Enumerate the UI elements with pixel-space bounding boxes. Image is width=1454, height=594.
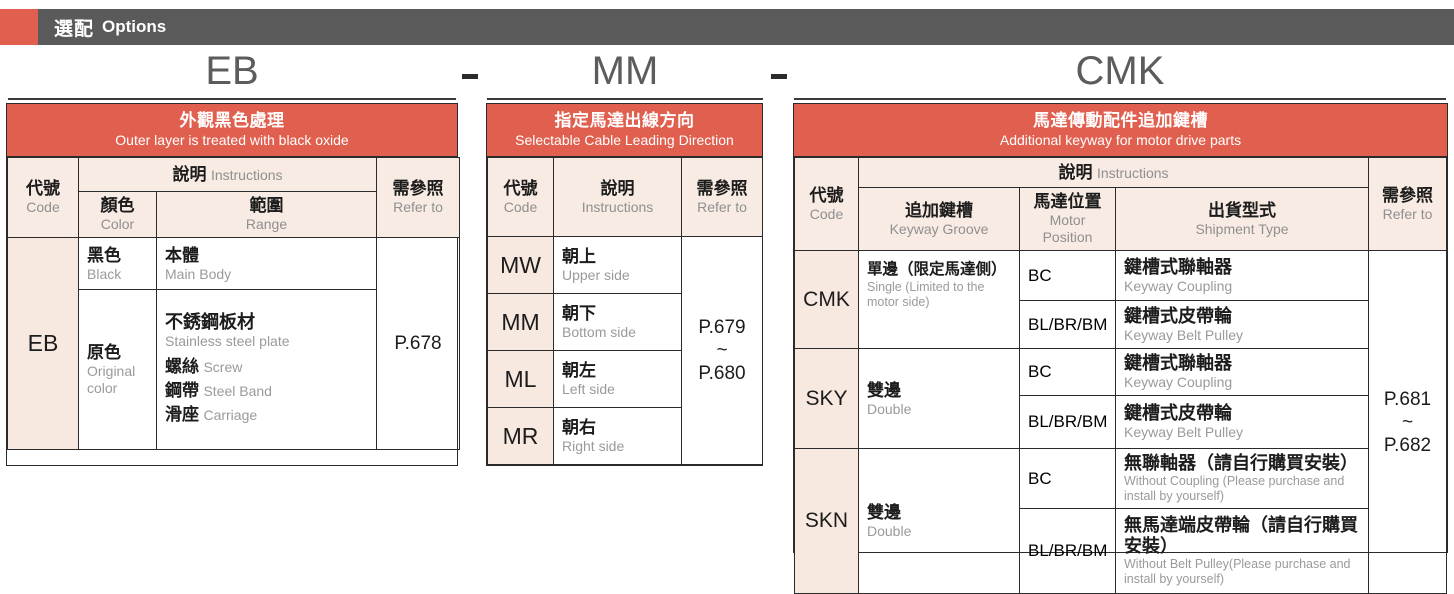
table-mm-grid: 代號 Code 說明 Instructions 需參照 Refer to MW … — [487, 157, 763, 465]
header-motor-position-zh: 馬達位置 — [1028, 192, 1107, 212]
keyway-en: Double — [867, 523, 1011, 540]
table-row: EB 黑色 Black 本體 Main Body P.678 — [8, 238, 460, 290]
header-shipment-zh: 出貨型式 — [1124, 201, 1360, 221]
header-cell-instructions: 說明 Instructions — [554, 158, 682, 237]
instruction-en: Upper side — [562, 267, 673, 284]
shipment-en: Keyway Belt Pulley — [1124, 327, 1360, 344]
table-row: 代號 Code 說明 Instructions 需參照 Refer to — [795, 158, 1447, 188]
table-eb-band-zh: 外觀黑色處理 — [11, 110, 453, 131]
instruction-en: Right side — [562, 438, 673, 455]
color-zh: 黑色 — [87, 245, 148, 266]
refer-cell-cmk: P.681 ~ P.682 — [1369, 251, 1447, 594]
keyway-en: Single (Limited to the motor side) — [867, 280, 1011, 310]
table-row: 代號 Code 說明 Instructions 需參照 Refer to — [8, 158, 460, 192]
code-rule-cmk — [794, 98, 1446, 100]
table-cmk-band-en: Additional keyway for motor drive parts — [798, 131, 1443, 149]
header-cell-refer: 需參照 Refer to — [1369, 158, 1447, 251]
table-cmk: 馬達傳動配件追加鍵槽 Additional keyway for motor d… — [793, 103, 1448, 553]
header-cell-instructions: 說明 Instructions — [79, 158, 377, 192]
header-code-en: Code — [803, 206, 850, 223]
code-cell-sky: SKY — [795, 349, 859, 449]
header-cell-motor-position: 馬達位置 Motor Position — [1020, 188, 1116, 251]
shipment-zh: 鍵槽式皮帶輪 — [1124, 306, 1360, 327]
shipment-zh: 鍵槽式聯軸器 — [1124, 353, 1360, 374]
code-cell-mr: MR — [488, 408, 554, 465]
shipment-cell: 鍵槽式聯軸器 Keyway Coupling — [1116, 251, 1369, 301]
header-refer-zh: 需參照 — [690, 179, 754, 199]
shipment-en: Keyway Coupling — [1124, 278, 1360, 295]
options-title-en: Options — [102, 17, 166, 37]
header-refer-zh: 需參照 — [1377, 186, 1438, 206]
refer-line: P.679 — [690, 316, 754, 339]
header-cell-code: 代號 Code — [8, 158, 79, 238]
keyway-zh: 雙邊 — [867, 380, 1011, 401]
keyway-zh: 單邊（限定馬達側） — [867, 259, 1011, 280]
refer-cell-eb: P.678 — [377, 238, 460, 450]
motor-position-cell: BC — [1020, 251, 1116, 301]
refer-line: P.680 — [690, 362, 754, 385]
shipment-zh: 鍵槽式皮帶輪 — [1124, 403, 1360, 424]
range-cell-main-body: 本體 Main Body — [157, 238, 377, 290]
color-zh: 原色 — [87, 342, 148, 363]
refer-line: ~ — [690, 339, 754, 362]
keyway-cell-skn: 雙邊 Double — [859, 449, 1020, 594]
instruction-cell-mm: 朝下 Bottom side — [554, 294, 682, 351]
instruction-zh: 朝左 — [562, 360, 673, 381]
shipment-cell: 鍵槽式聯軸器 Keyway Coupling — [1116, 349, 1369, 396]
refer-line: P.682 — [1377, 434, 1438, 457]
table-row: MW 朝上 Upper side P.679 ~ P.680 — [488, 237, 763, 294]
range-item-en: Screw — [203, 359, 242, 375]
range-cell-original: 不銹鋼板材 Stainless steel plate 螺絲 Screw 鋼帶 … — [157, 290, 377, 450]
header-instructions-en: Instructions — [211, 167, 283, 183]
table-mm-band-zh: 指定馬達出線方向 — [491, 110, 758, 131]
header-code-zh: 代號 — [496, 179, 545, 199]
motor-position-cell: BL/BR/BM — [1020, 396, 1116, 449]
shipment-en: Keyway Belt Pulley — [1124, 424, 1360, 441]
table-row: SKN 雙邊 Double BC 無聯軸器（請自行購買安裝） Without C… — [795, 449, 1447, 509]
header-cell-shipment: 出貨型式 Shipment Type — [1116, 188, 1369, 251]
header-code-en: Code — [496, 199, 545, 216]
separator-dash-2 — [771, 74, 787, 79]
header-cell-range: 範圍 Range — [157, 192, 377, 238]
header-cell-instructions: 說明 Instructions — [859, 158, 1369, 188]
options-accent-block — [0, 9, 38, 45]
header-cell-keyway: 追加鍵槽 Keyway Groove — [859, 188, 1020, 251]
color-cell-black: 黑色 Black — [79, 238, 157, 290]
table-eb-band-en: Outer layer is treated with black oxide — [11, 131, 453, 149]
instruction-en: Bottom side — [562, 324, 673, 341]
table-row: 追加鍵槽 Keyway Groove 馬達位置 Motor Position 出… — [795, 188, 1447, 251]
code-cell-eb: EB — [8, 238, 79, 450]
table-mm-band: 指定馬達出線方向 Selectable Cable Leading Direct… — [487, 104, 762, 157]
header-cell-refer: 需參照 Refer to — [682, 158, 763, 237]
header-cell-color: 顏色 Color — [79, 192, 157, 238]
range-item-zh: 滑座 — [165, 405, 199, 424]
code-rule-mm — [487, 98, 763, 100]
refer-line: P.681 — [1377, 388, 1438, 411]
range-item-group: 不銹鋼板材 Stainless steel plate — [165, 312, 368, 350]
header-refer-en: Refer to — [385, 199, 451, 216]
header-color-zh: 顏色 — [87, 196, 148, 216]
header-code-zh: 代號 — [803, 186, 850, 206]
table-row: 代號 Code 說明 Instructions 需參照 Refer to — [488, 158, 763, 237]
refer-cell-mm: P.679 ~ P.680 — [682, 237, 763, 465]
instruction-cell-mr: 朝右 Right side — [554, 408, 682, 465]
options-bar-body: 選配 Options — [38, 9, 1454, 45]
header-cell-code: 代號 Code — [795, 158, 859, 251]
table-eb: 外觀黑色處理 Outer layer is treated with black… — [6, 103, 458, 466]
range-item-en: Main Body — [165, 266, 368, 283]
header-refer-en: Refer to — [1377, 206, 1438, 223]
header-code-zh: 代號 — [16, 179, 70, 199]
instruction-zh: 朝右 — [562, 417, 673, 438]
header-instructions-en: Instructions — [1097, 165, 1169, 181]
range-item-en: Stainless steel plate — [165, 333, 368, 350]
range-item-en: Carriage — [203, 407, 257, 423]
shipment-zh: 無馬達端皮帶輪（請自行購買安裝） — [1124, 515, 1360, 557]
keyway-cell-cmk: 單邊（限定馬達側） Single (Limited to the motor s… — [859, 251, 1020, 349]
table-mm-band-en: Selectable Cable Leading Direction — [491, 131, 758, 149]
range-item-group: 滑座 Carriage — [165, 404, 368, 425]
header-refer-zh: 需參照 — [385, 179, 451, 199]
color-en: Original color — [87, 363, 147, 397]
header-motor-position-en: Motor Position — [1028, 212, 1107, 246]
motor-position-cell: BC — [1020, 449, 1116, 509]
code-title-row: EB MM CMK — [0, 48, 1454, 100]
shipment-cell: 無聯軸器（請自行購買安裝） Without Coupling (Please p… — [1116, 449, 1369, 509]
motor-position-cell: BC — [1020, 349, 1116, 396]
range-item-group: 鋼帶 Steel Band — [165, 380, 368, 401]
header-range-en: Range — [165, 216, 368, 233]
separator-dash-1 — [462, 74, 478, 79]
header-range-zh: 範圍 — [165, 196, 368, 216]
header-instructions-zh: 說明 — [172, 165, 206, 184]
code-cell-mw: MW — [488, 237, 554, 294]
range-item-group: 螺絲 Screw — [165, 356, 368, 377]
table-cmk-band-zh: 馬達傳動配件追加鍵槽 — [798, 110, 1443, 131]
shipment-cell: 無馬達端皮帶輪（請自行購買安裝） Without Belt Pulley(Ple… — [1116, 509, 1369, 594]
header-refer-en: Refer to — [690, 199, 754, 216]
code-cell-ml: ML — [488, 351, 554, 408]
range-item-zh: 鋼帶 — [165, 381, 199, 400]
instruction-zh: 朝上 — [562, 246, 673, 267]
options-header-bar: 選配 Options — [0, 9, 1454, 45]
motor-position-cell: BL/BR/BM — [1020, 301, 1116, 349]
code-cell-mm: MM — [488, 294, 554, 351]
range-item-zh: 不銹鋼板材 — [165, 312, 368, 333]
code-rule-eb — [8, 98, 456, 100]
keyway-en: Double — [867, 401, 1011, 418]
instruction-cell-mw: 朝上 Upper side — [554, 237, 682, 294]
header-instructions-zh: 說明 — [562, 179, 673, 199]
keyway-cell-sky: 雙邊 Double — [859, 349, 1020, 449]
keyway-zh: 雙邊 — [867, 502, 1011, 523]
table-row: SKY 雙邊 Double BC 鍵槽式聯軸器 Keyway Coupling — [795, 349, 1447, 396]
header-instructions-zh: 說明 — [1058, 163, 1092, 182]
range-item-zh: 螺絲 — [165, 357, 199, 376]
shipment-cell: 鍵槽式皮帶輪 Keyway Belt Pulley — [1116, 396, 1369, 449]
shipment-en: Without Belt Pulley(Please purchase and … — [1124, 557, 1360, 587]
shipment-zh: 無聯軸器（請自行購買安裝） — [1124, 453, 1360, 474]
color-en: Black — [87, 266, 148, 283]
code-title-mm: MM — [487, 48, 763, 94]
table-eb-band: 外觀黑色處理 Outer layer is treated with black… — [7, 104, 457, 157]
shipment-en: Without Coupling (Please purchase and in… — [1124, 474, 1360, 504]
table-row: CMK 單邊（限定馬達側） Single (Limited to the mot… — [795, 251, 1447, 301]
table-eb-grid: 代號 Code 說明 Instructions 需參照 Refer to 顏色 … — [7, 157, 460, 450]
header-keyway-en: Keyway Groove — [867, 221, 1011, 238]
options-title-zh: 選配 — [54, 14, 94, 41]
header-cell-refer: 需參照 Refer to — [377, 158, 460, 238]
code-cell-skn: SKN — [795, 449, 859, 594]
header-keyway-zh: 追加鍵槽 — [867, 201, 1011, 221]
shipment-en: Keyway Coupling — [1124, 374, 1360, 391]
table-cmk-band: 馬達傳動配件追加鍵槽 Additional keyway for motor d… — [794, 104, 1447, 157]
refer-line: ~ — [1377, 411, 1438, 434]
header-code-en: Code — [16, 199, 70, 216]
table-cmk-grid: 代號 Code 說明 Instructions 需參照 Refer to 追加鍵… — [794, 157, 1447, 594]
range-item-en: Steel Band — [203, 383, 272, 399]
header-shipment-en: Shipment Type — [1124, 221, 1360, 238]
header-cell-code: 代號 Code — [488, 158, 554, 237]
shipment-cell: 鍵槽式皮帶輪 Keyway Belt Pulley — [1116, 301, 1369, 349]
instruction-zh: 朝下 — [562, 303, 673, 324]
code-title-eb: EB — [8, 48, 456, 94]
range-item-zh: 本體 — [165, 245, 368, 266]
header-color-en: Color — [87, 216, 148, 233]
code-cell-cmk: CMK — [795, 251, 859, 349]
code-title-cmk: CMK — [794, 48, 1446, 94]
shipment-zh: 鍵槽式聯軸器 — [1124, 257, 1360, 278]
table-mm: 指定馬達出線方向 Selectable Cable Leading Direct… — [486, 103, 763, 466]
header-instructions-en: Instructions — [562, 199, 673, 216]
color-cell-original: 原色 Original color — [79, 290, 157, 450]
instruction-cell-ml: 朝左 Left side — [554, 351, 682, 408]
motor-position-cell: BL/BR/BM — [1020, 509, 1116, 594]
instruction-en: Left side — [562, 381, 673, 398]
